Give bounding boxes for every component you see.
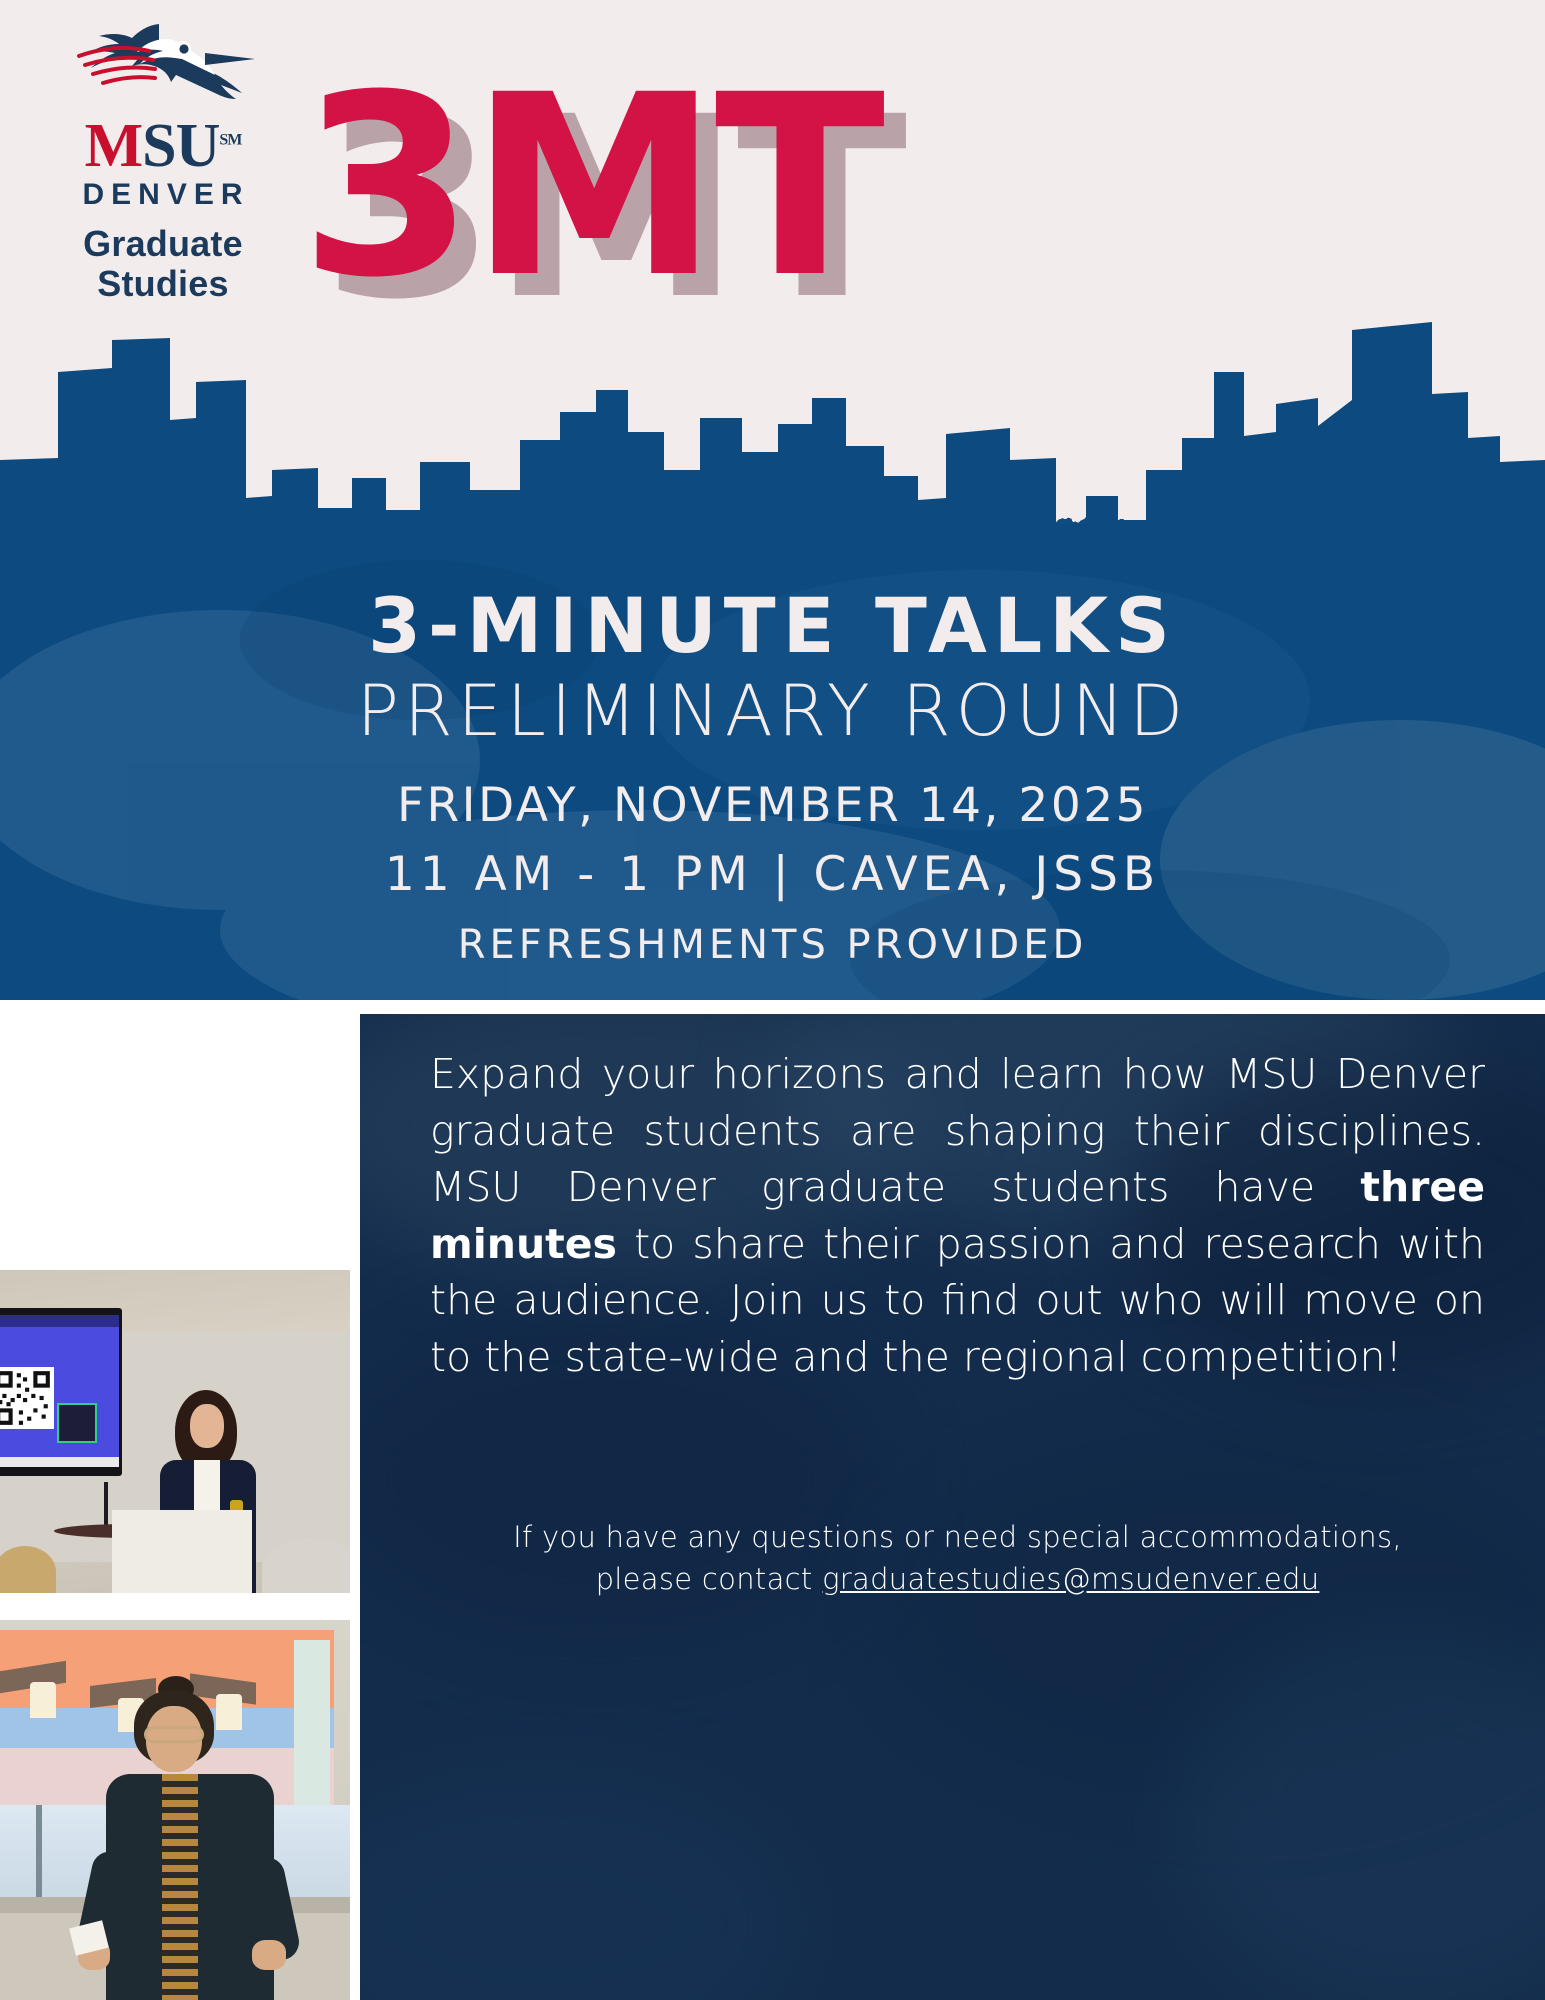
description-panel: Expand your horizons and learn how MSU D…	[360, 1014, 1545, 2000]
roadrunner-icon	[63, 18, 263, 113]
event-date: FRIDAY, NOVEMBER 14, 2025	[0, 774, 1545, 837]
three-mt-main: 3MT	[300, 62, 881, 312]
event-subtitle: PRELIMINARY ROUND	[0, 671, 1545, 752]
contact-email-link[interactable]: graduatestudies@msudenver.edu	[822, 1562, 1319, 1596]
event-details-block: 3-MINUTE TALKS PRELIMINARY ROUND FRIDAY,…	[0, 585, 1545, 968]
description-paragraph: Expand your horizons and learn how MSU D…	[430, 1046, 1485, 1385]
white-divider-top	[0, 1000, 1545, 1014]
msu-wordmark: MSUSM	[38, 117, 288, 176]
wall-monitor	[0, 1308, 122, 1476]
msu-letter-m: M	[85, 112, 143, 180]
photo-presenter-podium	[0, 1270, 350, 1593]
contact-block: If you have any questions or need specia…	[430, 1516, 1485, 1600]
msu-denver-graduate-studies-logo: MSUSM DENVER Graduate Studies	[38, 18, 288, 328]
contact-line-2: please contact graduatestudies@msudenver…	[430, 1558, 1485, 1600]
description-content: Expand your horizons and learn how MSU D…	[430, 1046, 1485, 1385]
contact-prefix: please contact	[596, 1562, 823, 1596]
denver-wordmark: DENVER	[38, 178, 288, 212]
three-mt-acronym: 3MT 3MT	[300, 62, 1000, 322]
event-time-location: 11 AM - 1 PM | CAVEA, JSSB	[0, 843, 1545, 906]
white-divider-between-photos	[0, 1593, 350, 1620]
event-refreshments: REFRESHMENTS PROVIDED	[0, 922, 1545, 968]
unit-line-1: Graduate	[38, 224, 288, 264]
msu-letters-su: SU	[142, 112, 219, 180]
qr-code-icon	[0, 1367, 54, 1429]
trademark-sm: SM	[219, 131, 241, 148]
unit-line-2: Studies	[38, 264, 288, 304]
poster-root: MSUSM DENVER Graduate Studies 3MT 3MT 3-…	[0, 0, 1545, 2000]
description-part-1: Expand your horizons and learn how MSU D…	[430, 1050, 1485, 1211]
eyeglasses-icon	[144, 1726, 204, 1743]
photo-presenter-slide	[0, 1620, 350, 2000]
event-title: 3-MINUTE TALKS	[0, 585, 1545, 667]
graduate-studies-unit: Graduate Studies	[38, 224, 288, 305]
contact-line-1: If you have any questions or need specia…	[430, 1516, 1485, 1558]
